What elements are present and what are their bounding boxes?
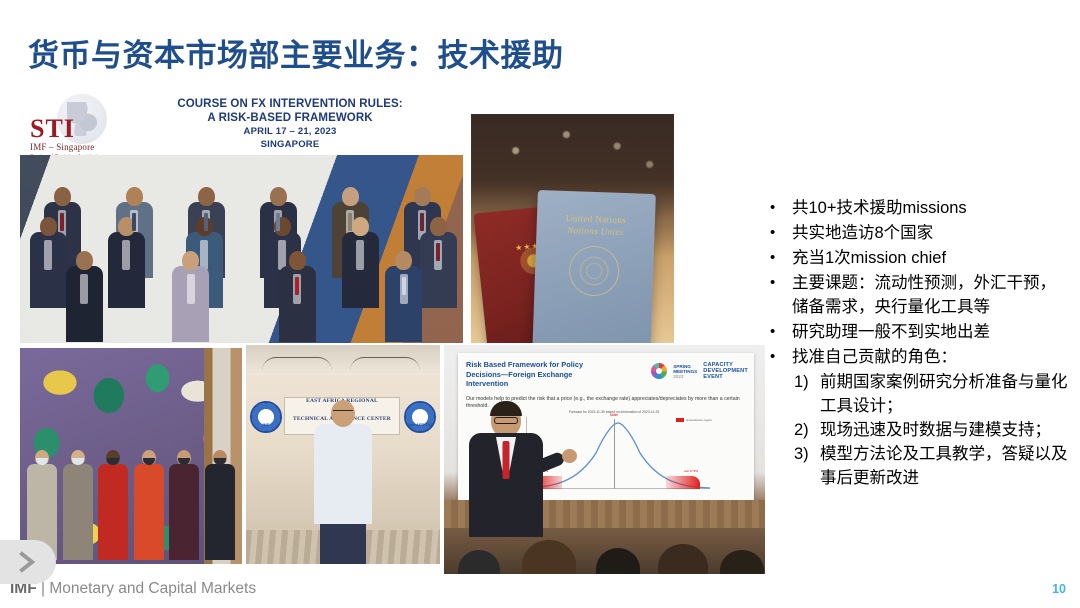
bullet-list: • 共10+技术援助missions • 共实地造访8个国家 • 充当1次mis… bbox=[770, 196, 1070, 490]
bullet-marker: • bbox=[770, 246, 792, 270]
glasses-icon bbox=[494, 417, 518, 424]
person bbox=[204, 450, 236, 560]
bullet-marker: • bbox=[770, 221, 792, 245]
imf-seal-icon: IMF bbox=[250, 401, 282, 433]
sub-bullet-text: 模型方法论及工具教学，答疑以及事后更新改进 bbox=[820, 442, 1070, 490]
afritac-photo: IMF East AFRITAC EAST AFRICA REGIONAL TE… bbox=[246, 345, 440, 564]
page-number: 10 bbox=[1052, 582, 1066, 596]
bullet-marker: • bbox=[770, 271, 792, 319]
glasses-icon bbox=[333, 410, 353, 415]
sub-bullet-text: 现场迅速及时数据与建模支持； bbox=[820, 418, 1070, 442]
un-passport-line2: Nations Unies bbox=[536, 224, 654, 238]
course-title-block: COURSE ON FX INTERVENTION RULES: A RISK-… bbox=[120, 98, 460, 151]
course-dates: APRIL 17 – 21, 2023 bbox=[120, 125, 460, 138]
sub-bullet-text: 前期国家案例研究分析准备与量化工具设计； bbox=[820, 370, 1070, 418]
projected-slide-logos: SPRING MEETINGS 2023 CAPACITY DEVELOPMEN… bbox=[651, 362, 748, 380]
course-location: SINGAPORE bbox=[120, 138, 460, 151]
bullet-marker: • bbox=[770, 345, 792, 369]
person bbox=[168, 450, 200, 560]
footer-label: IMF | Monetary and Capital Markets bbox=[10, 580, 256, 598]
chart-right-tail bbox=[666, 476, 700, 489]
speaker-person bbox=[468, 403, 544, 541]
mural-photo-people bbox=[26, 450, 236, 560]
sti-logo: STI IMF – Singapore Regional Training In… bbox=[24, 94, 116, 156]
group-photo bbox=[20, 155, 463, 343]
sub-bullet-number: 2) bbox=[794, 418, 820, 442]
presentation-slide: 货币与资本市场部主要业务：技术援助 STI IMF – Singapore Re… bbox=[0, 0, 1080, 608]
list-item: • 研究助理一般不到实地出差 bbox=[770, 320, 1070, 344]
person bbox=[97, 450, 129, 560]
chart-mode-label: Mode bbox=[610, 413, 618, 417]
conference-photo: Risk Based Framework for Policy Decision… bbox=[444, 345, 765, 576]
page-title: 货币与资本市场部主要业务：技术援助 bbox=[28, 30, 564, 75]
spring-meetings-logo: SPRING MEETINGS 2023 bbox=[673, 364, 697, 379]
person bbox=[133, 450, 165, 560]
imf-seal-label: IMF bbox=[252, 422, 280, 427]
photo-collage: STI IMF – Singapore Regional Training In… bbox=[20, 92, 765, 576]
footer-department: Monetary and Capital Markets bbox=[49, 580, 256, 597]
hair bbox=[490, 401, 522, 416]
list-item: • 共实地造访8个国家 bbox=[770, 221, 1070, 245]
audience-head bbox=[458, 550, 500, 576]
spring-meetings-line3: 2023 bbox=[673, 374, 683, 379]
projected-title-line3: Intervention bbox=[466, 379, 508, 388]
track-light-icon bbox=[350, 357, 420, 371]
sub-bullet-number: 3) bbox=[794, 442, 820, 490]
track-light-icon bbox=[262, 357, 332, 371]
spring-meetings-donut-icon bbox=[651, 363, 667, 379]
projected-title-line2: Decisions—Foreign Exchange bbox=[466, 370, 572, 379]
un-laissez-passer: United Nations Nations Unies LAISSEZ-PAS… bbox=[532, 190, 656, 343]
course-title-line1: COURSE ON FX INTERVENTION RULES: bbox=[120, 98, 460, 112]
next-slide-button[interactable] bbox=[0, 540, 56, 584]
afritac-seal-label: East AFRITAC bbox=[406, 422, 434, 427]
list-item: 3) 模型方法论及工具教学，答疑以及事后更新改进 bbox=[794, 442, 1070, 490]
sti-logo-sub1: IMF – Singapore bbox=[30, 142, 116, 153]
list-item: 1) 前期国家案例研究分析准备与量化工具设计； bbox=[794, 370, 1070, 418]
projected-slide-title: Risk Based Framework for Policy Decision… bbox=[466, 360, 621, 389]
audience-head bbox=[596, 548, 640, 576]
list-item: • 找准自己贡献的角色： bbox=[770, 345, 1070, 369]
course-title-line2: A RISK-BASED FRAMEWORK bbox=[120, 112, 460, 126]
sti-logo-main: STI bbox=[30, 116, 116, 142]
mural-photo bbox=[20, 348, 242, 564]
passports-photo: United Nations Nations Unies LAISSEZ-PAS… bbox=[471, 114, 674, 343]
person bbox=[62, 450, 94, 560]
chart-right-tail-label: null 17.5% bbox=[684, 469, 698, 473]
cmdc-line3: EVENT bbox=[703, 374, 723, 380]
bullet-text: 共实地造访8个国家 bbox=[792, 221, 1070, 245]
bullet-text: 共10+技术援助missions bbox=[792, 196, 1070, 220]
audience-head bbox=[522, 540, 576, 576]
cmdc-logo: CAPACITY DEVELOPMENT EVENT bbox=[703, 362, 748, 380]
audience bbox=[444, 524, 765, 576]
person bbox=[313, 400, 373, 564]
audience-head bbox=[658, 544, 708, 576]
numbered-sub-list: 1) 前期国家案例研究分析准备与量化工具设计； 2) 现场迅速及时数据与建模支持… bbox=[770, 370, 1070, 490]
bullet-text: 充当1次mission chief bbox=[792, 246, 1070, 270]
bullet-marker: • bbox=[770, 320, 792, 344]
bullet-text: 主要课题：流动性预测，外汇干预，储备需求，央行量化工具等 bbox=[792, 271, 1070, 319]
chevron-right-icon bbox=[19, 551, 37, 573]
sub-bullet-number: 1) bbox=[794, 370, 820, 418]
list-item: • 充当1次mission chief bbox=[770, 246, 1070, 270]
un-emblem-icon bbox=[568, 245, 620, 297]
bullet-text: 研究助理一般不到实地出差 bbox=[792, 320, 1070, 344]
course-header-banner: STI IMF – Singapore Regional Training In… bbox=[20, 92, 465, 156]
list-item: • 共10+技术援助missions bbox=[770, 196, 1070, 220]
afritac-seal-icon: East AFRITAC bbox=[404, 401, 436, 433]
bullet-text: 找准自己贡献的角色： bbox=[792, 345, 1070, 369]
slide-footer: IMF | Monetary and Capital Markets 10 bbox=[0, 574, 1080, 608]
un-passport-footer: LAISSEZ-PASSER bbox=[532, 341, 650, 343]
bullet-marker: • bbox=[770, 196, 792, 220]
list-item: 2) 现场迅速及时数据与建模支持； bbox=[794, 418, 1070, 442]
audience-head bbox=[720, 550, 764, 576]
list-item: • 主要课题：流动性预测，外汇干预，储备需求，央行量化工具等 bbox=[770, 271, 1070, 319]
distribution-chart: Forecast for 2023-11-30 based on informa… bbox=[514, 411, 714, 499]
projected-title-line1: Risk Based Framework for Policy bbox=[466, 360, 583, 369]
